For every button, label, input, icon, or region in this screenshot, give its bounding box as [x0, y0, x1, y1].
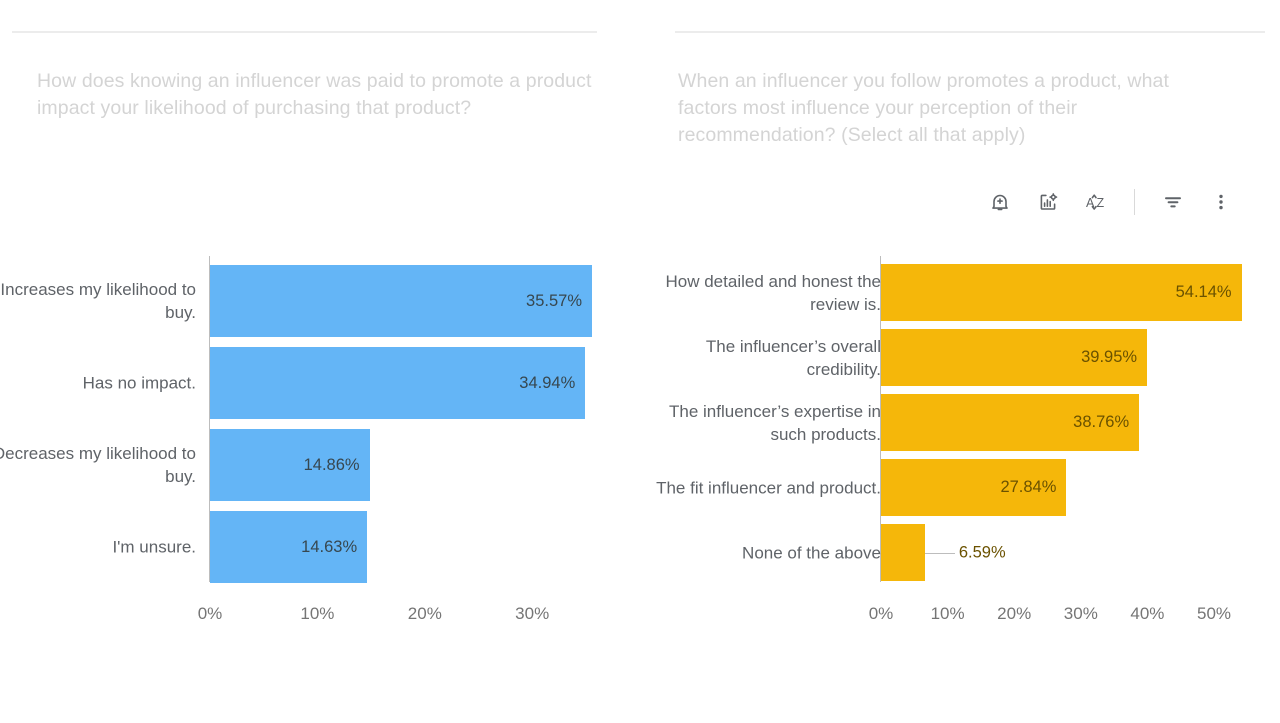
more-vert-icon: [1209, 190, 1233, 214]
bar[interactable]: 38.76%: [881, 394, 1139, 451]
more-options-button[interactable]: [1201, 182, 1241, 222]
svg-text:Z: Z: [1097, 196, 1105, 210]
bar-row[interactable]: The fit influencer and product.27.84%: [640, 455, 1280, 520]
bar-value-label: 35.57%: [526, 292, 592, 311]
bar[interactable]: 35.57%: [210, 265, 592, 337]
bar[interactable]: 14.63%: [210, 511, 367, 583]
bar-row[interactable]: None of the above6.59%: [640, 520, 1280, 585]
bar[interactable]: 27.84%: [881, 459, 1066, 516]
bar-category-label: How detailed and honest the review is.: [651, 270, 881, 316]
bar-value-label: 27.84%: [1000, 478, 1066, 497]
x-axis-tick: 10%: [300, 604, 334, 624]
x-axis-tick: 0%: [869, 604, 894, 624]
bar-value-label: 14.86%: [304, 456, 370, 475]
bar-value-label: 38.76%: [1073, 413, 1139, 432]
bar-category-label: Decreases my likelihood to buy.: [0, 442, 196, 488]
value-leader-line: [925, 553, 955, 555]
chart-toolbar: A Z: [980, 180, 1241, 224]
bar-value-label: 14.63%: [301, 538, 367, 557]
sort-alphabetical-button[interactable]: A Z: [1076, 182, 1116, 222]
bar[interactable]: 14.86%: [210, 429, 370, 501]
bar-category-label: The fit influencer and product.: [651, 476, 881, 499]
x-axis-tick: 0%: [198, 604, 223, 624]
bar-value-label: 54.14%: [1176, 283, 1242, 302]
filter-button[interactable]: [1153, 182, 1193, 222]
bar-row[interactable]: I'm unsure.14.63%: [0, 506, 620, 588]
bar-category-label: I'm unsure.: [0, 536, 196, 559]
bar-row[interactable]: Decreases my likelihood to buy.14.86%: [0, 424, 620, 506]
bar-category-label: The influencer’s expertise in such produ…: [651, 400, 881, 446]
bar-category-label: None of the above: [651, 541, 881, 564]
chart-page: How does knowing an influencer was paid …: [0, 0, 1280, 723]
bar-category-label: Has no impact.: [0, 372, 196, 395]
chart-settings-icon: [1036, 190, 1060, 214]
x-axis-tick: 30%: [515, 604, 549, 624]
x-axis-ticks-left: 0%10%20%30%: [0, 604, 620, 628]
bar[interactable]: [881, 524, 925, 581]
toolbar-separator: [1134, 189, 1135, 215]
chart-panel-right: When an influencer you follow promotes a…: [640, 0, 1280, 723]
x-axis-tick: 30%: [1064, 604, 1098, 624]
bar[interactable]: 34.94%: [210, 347, 585, 419]
x-axis-ticks-right: 0%10%20%30%40%50%: [640, 604, 1280, 628]
bar-rows-left: Increases my likelihood to buy.35.57%Has…: [0, 260, 620, 588]
bar-category-label: The influencer’s overall credibility.: [651, 335, 881, 381]
chart-title-right: When an influencer you follow promotes a…: [678, 68, 1223, 149]
chart-panel-left: How does knowing an influencer was paid …: [0, 0, 640, 723]
panel-divider-right: [675, 31, 1265, 33]
x-axis-tick: 50%: [1197, 604, 1231, 624]
x-axis-tick: 20%: [408, 604, 442, 624]
bar-value-label: 6.59%: [959, 543, 1006, 562]
bar-value-label: 34.94%: [519, 374, 585, 393]
sort-alphabetical-icon: A Z: [1083, 190, 1109, 214]
bar-row[interactable]: Increases my likelihood to buy.35.57%: [0, 260, 620, 342]
add-alert-button[interactable]: [980, 182, 1020, 222]
add-alert-icon: [988, 190, 1012, 214]
x-axis-tick: 10%: [931, 604, 965, 624]
bar[interactable]: 54.14%: [881, 264, 1242, 321]
chart-title-left: How does knowing an influencer was paid …: [37, 68, 612, 122]
panel-divider-left: [12, 31, 597, 33]
chart-plot-right: How detailed and honest the review is.54…: [640, 256, 1280, 636]
x-axis-tick: 20%: [997, 604, 1031, 624]
bar[interactable]: 39.95%: [881, 329, 1147, 386]
bar-rows-right: How detailed and honest the review is.54…: [640, 260, 1280, 585]
bar-row[interactable]: The influencer’s overall credibility.39.…: [640, 325, 1280, 390]
bar-row[interactable]: How detailed and honest the review is.54…: [640, 260, 1280, 325]
bar-row[interactable]: The influencer’s expertise in such produ…: [640, 390, 1280, 455]
x-axis-tick: 40%: [1130, 604, 1164, 624]
filter-icon: [1161, 190, 1185, 214]
chart-settings-button[interactable]: [1028, 182, 1068, 222]
chart-plot-left: Increases my likelihood to buy.35.57%Has…: [0, 256, 620, 636]
bar-row[interactable]: Has no impact.34.94%: [0, 342, 620, 424]
bar-category-label: Increases my likelihood to buy.: [0, 278, 196, 324]
bar-value-label: 39.95%: [1081, 348, 1147, 367]
